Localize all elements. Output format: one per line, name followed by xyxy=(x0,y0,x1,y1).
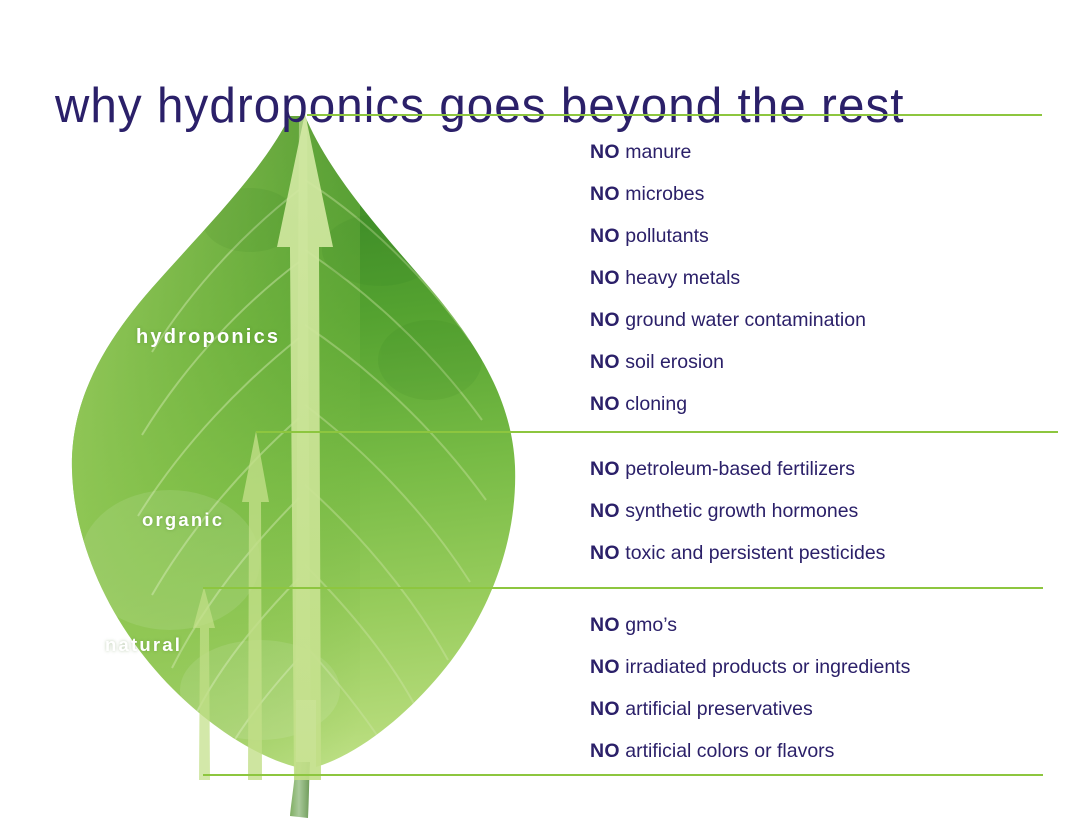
leaf-label-organic: organic xyxy=(142,509,224,531)
benefit-text: toxic and persistent pesticides xyxy=(620,542,886,564)
benefit-text: ground water contamination xyxy=(620,309,866,331)
benefit-item: NO manure xyxy=(590,131,866,173)
benefit-group-hydroponics: NO manureNO microbesNO pollutantsNO heav… xyxy=(590,131,866,425)
leaf-blade xyxy=(60,100,530,790)
benefit-item: NO gmo’s xyxy=(590,604,910,646)
benefit-text: artificial preservatives xyxy=(620,698,813,720)
benefit-item: NO microbes xyxy=(590,173,866,215)
benefit-text: soil erosion xyxy=(620,351,724,373)
benefit-prefix: NO xyxy=(590,500,620,522)
benefit-prefix: NO xyxy=(590,740,620,762)
benefit-prefix: NO xyxy=(590,183,620,205)
benefit-item: NO soil erosion xyxy=(590,341,866,383)
benefit-prefix: NO xyxy=(590,698,620,720)
leaf-label-natural: natural xyxy=(105,634,182,656)
benefit-prefix: NO xyxy=(590,393,620,415)
benefit-item: NO artificial colors or flavors xyxy=(590,730,910,772)
benefit-text: pollutants xyxy=(620,225,709,247)
organic-natural-rule xyxy=(203,587,1043,589)
benefit-text: artificial colors or flavors xyxy=(620,740,835,762)
benefit-prefix: NO xyxy=(590,225,620,247)
benefit-prefix: NO xyxy=(590,656,620,678)
benefit-prefix: NO xyxy=(590,614,620,636)
benefit-text: irradiated products or ingredients xyxy=(620,656,911,678)
leaf-label-hydroponics: hydroponics xyxy=(136,326,280,349)
benefit-group-natural: NO gmo’sNO irradiated products or ingred… xyxy=(590,604,910,772)
benefit-prefix: NO xyxy=(590,458,620,480)
benefit-text: gmo’s xyxy=(620,614,677,636)
benefit-group-organic: NO petroleum-based fertilizersNO synthet… xyxy=(590,448,885,574)
benefit-prefix: NO xyxy=(590,309,620,331)
benefit-prefix: NO xyxy=(590,267,620,289)
benefit-item: NO synthetic growth hormones xyxy=(590,490,885,532)
benefit-item: NO heavy metals xyxy=(590,257,866,299)
infographic-poster: why hydroponics goes beyond the rest hyd… xyxy=(0,0,1080,835)
hydroponics-top-rule xyxy=(307,114,1042,116)
benefit-prefix: NO xyxy=(590,141,620,163)
benefit-prefix: NO xyxy=(590,351,620,373)
natural-bottom-rule xyxy=(203,774,1043,776)
benefit-text: microbes xyxy=(620,183,705,205)
medium-arrow xyxy=(242,431,269,780)
benefit-item: NO petroleum-based fertilizers xyxy=(590,448,885,490)
page-title: why hydroponics goes beyond the rest xyxy=(55,79,1006,133)
benefit-text: heavy metals xyxy=(620,267,740,289)
benefit-text: manure xyxy=(620,141,692,163)
benefit-text: cloning xyxy=(620,393,687,415)
benefit-item: NO ground water contamination xyxy=(590,299,866,341)
benefit-item: NO pollutants xyxy=(590,215,866,257)
benefit-prefix: NO xyxy=(590,542,620,564)
leaf-stem xyxy=(290,762,310,818)
benefit-text: petroleum-based fertilizers xyxy=(620,458,855,480)
hydroponics-organic-rule xyxy=(256,431,1058,433)
benefit-item: NO cloning xyxy=(590,383,866,425)
benefit-item: NO artificial preservatives xyxy=(590,688,910,730)
benefit-text: synthetic growth hormones xyxy=(620,500,858,522)
benefit-item: NO irradiated products or ingredients xyxy=(590,646,910,688)
large-arrow xyxy=(277,113,333,780)
benefit-item: NO toxic and persistent pesticides xyxy=(590,532,885,574)
small-arrow xyxy=(193,587,215,780)
